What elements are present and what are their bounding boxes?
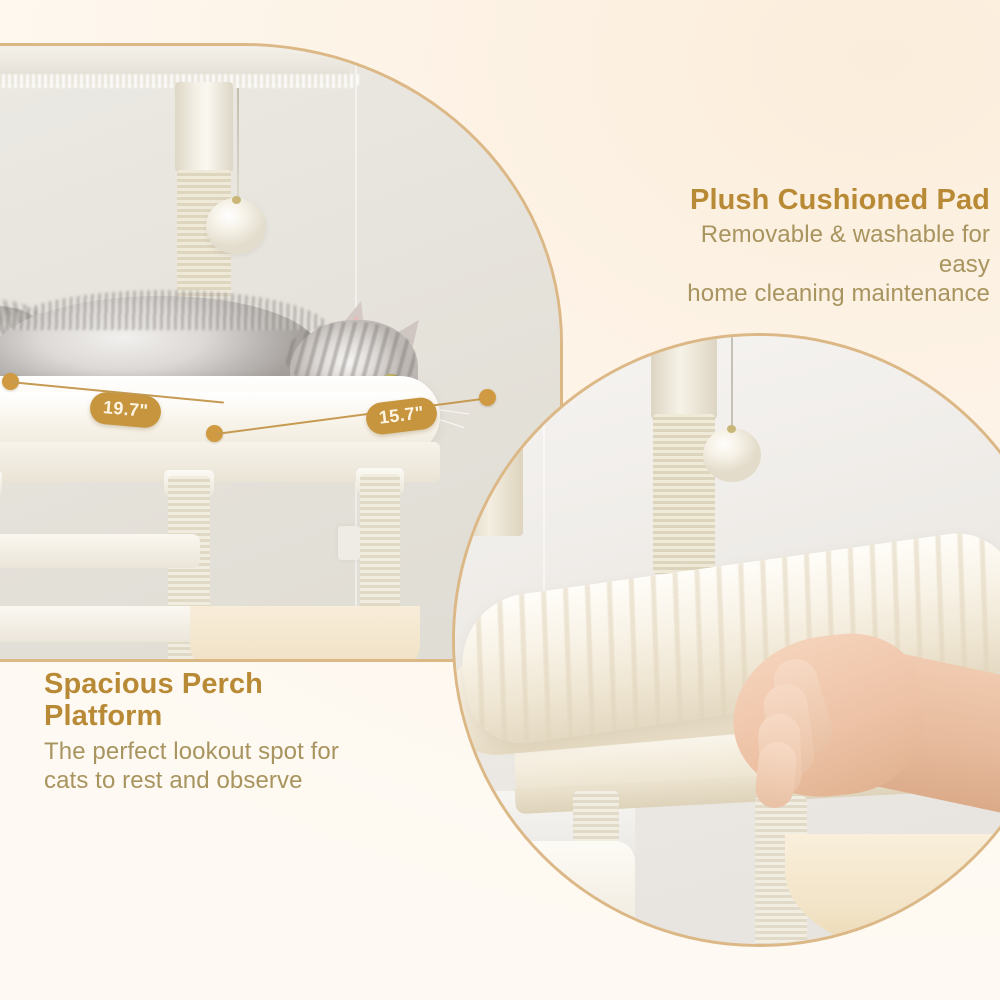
product-feature-infographic: 19.7" 15.7" [0, 0, 1000, 1000]
feature-title-line: Spacious Perch [44, 668, 263, 700]
photo-background [455, 336, 1000, 944]
mid-shelf [0, 534, 200, 568]
pompom-string [237, 88, 239, 203]
center-post-plush [651, 333, 717, 420]
pompom-knot [727, 425, 736, 433]
feature-title: Spacious Perch Platform [44, 668, 444, 733]
perch-leg-top-a [0, 470, 2, 496]
lower-plush-shelf [452, 841, 635, 947]
removable-pad-photo-panel [452, 333, 1000, 947]
feature-description: Removable & washable for easy home clean… [560, 220, 990, 308]
feature-spacious-perch-platform: Spacious Perch Platform The perfect look… [44, 668, 444, 795]
feature-description-line: The perfect lookout spot for [44, 738, 339, 765]
pompom-toy [703, 428, 761, 482]
lower-shelf [0, 606, 200, 642]
feature-description: The perfect lookout spot for cats to res… [44, 737, 444, 796]
feature-description-line: easy [939, 251, 990, 278]
wall-outlet [338, 526, 360, 560]
feature-description-line: home cleaning maintenance [687, 280, 990, 307]
feature-plush-cushioned-pad: Plush Cushioned Pad Removable & washable… [560, 184, 990, 308]
hammock [785, 834, 1000, 947]
feature-title-line: Platform [44, 700, 162, 732]
upper-post-plush [175, 82, 233, 172]
cat-back-fur [0, 290, 330, 330]
dimension-badge-width: 19.7" [89, 391, 163, 429]
pompom-knot [232, 196, 241, 204]
feature-description-line: cats to rest and observe [44, 767, 303, 794]
hammock [190, 606, 420, 662]
center-post-sisal [653, 414, 715, 574]
left-post [461, 333, 523, 536]
feature-title: Plush Cushioned Pad [560, 184, 990, 216]
feature-description-line: Removable & washable for [701, 221, 990, 248]
pompom-toy [206, 198, 266, 254]
pompom-string [731, 333, 733, 431]
